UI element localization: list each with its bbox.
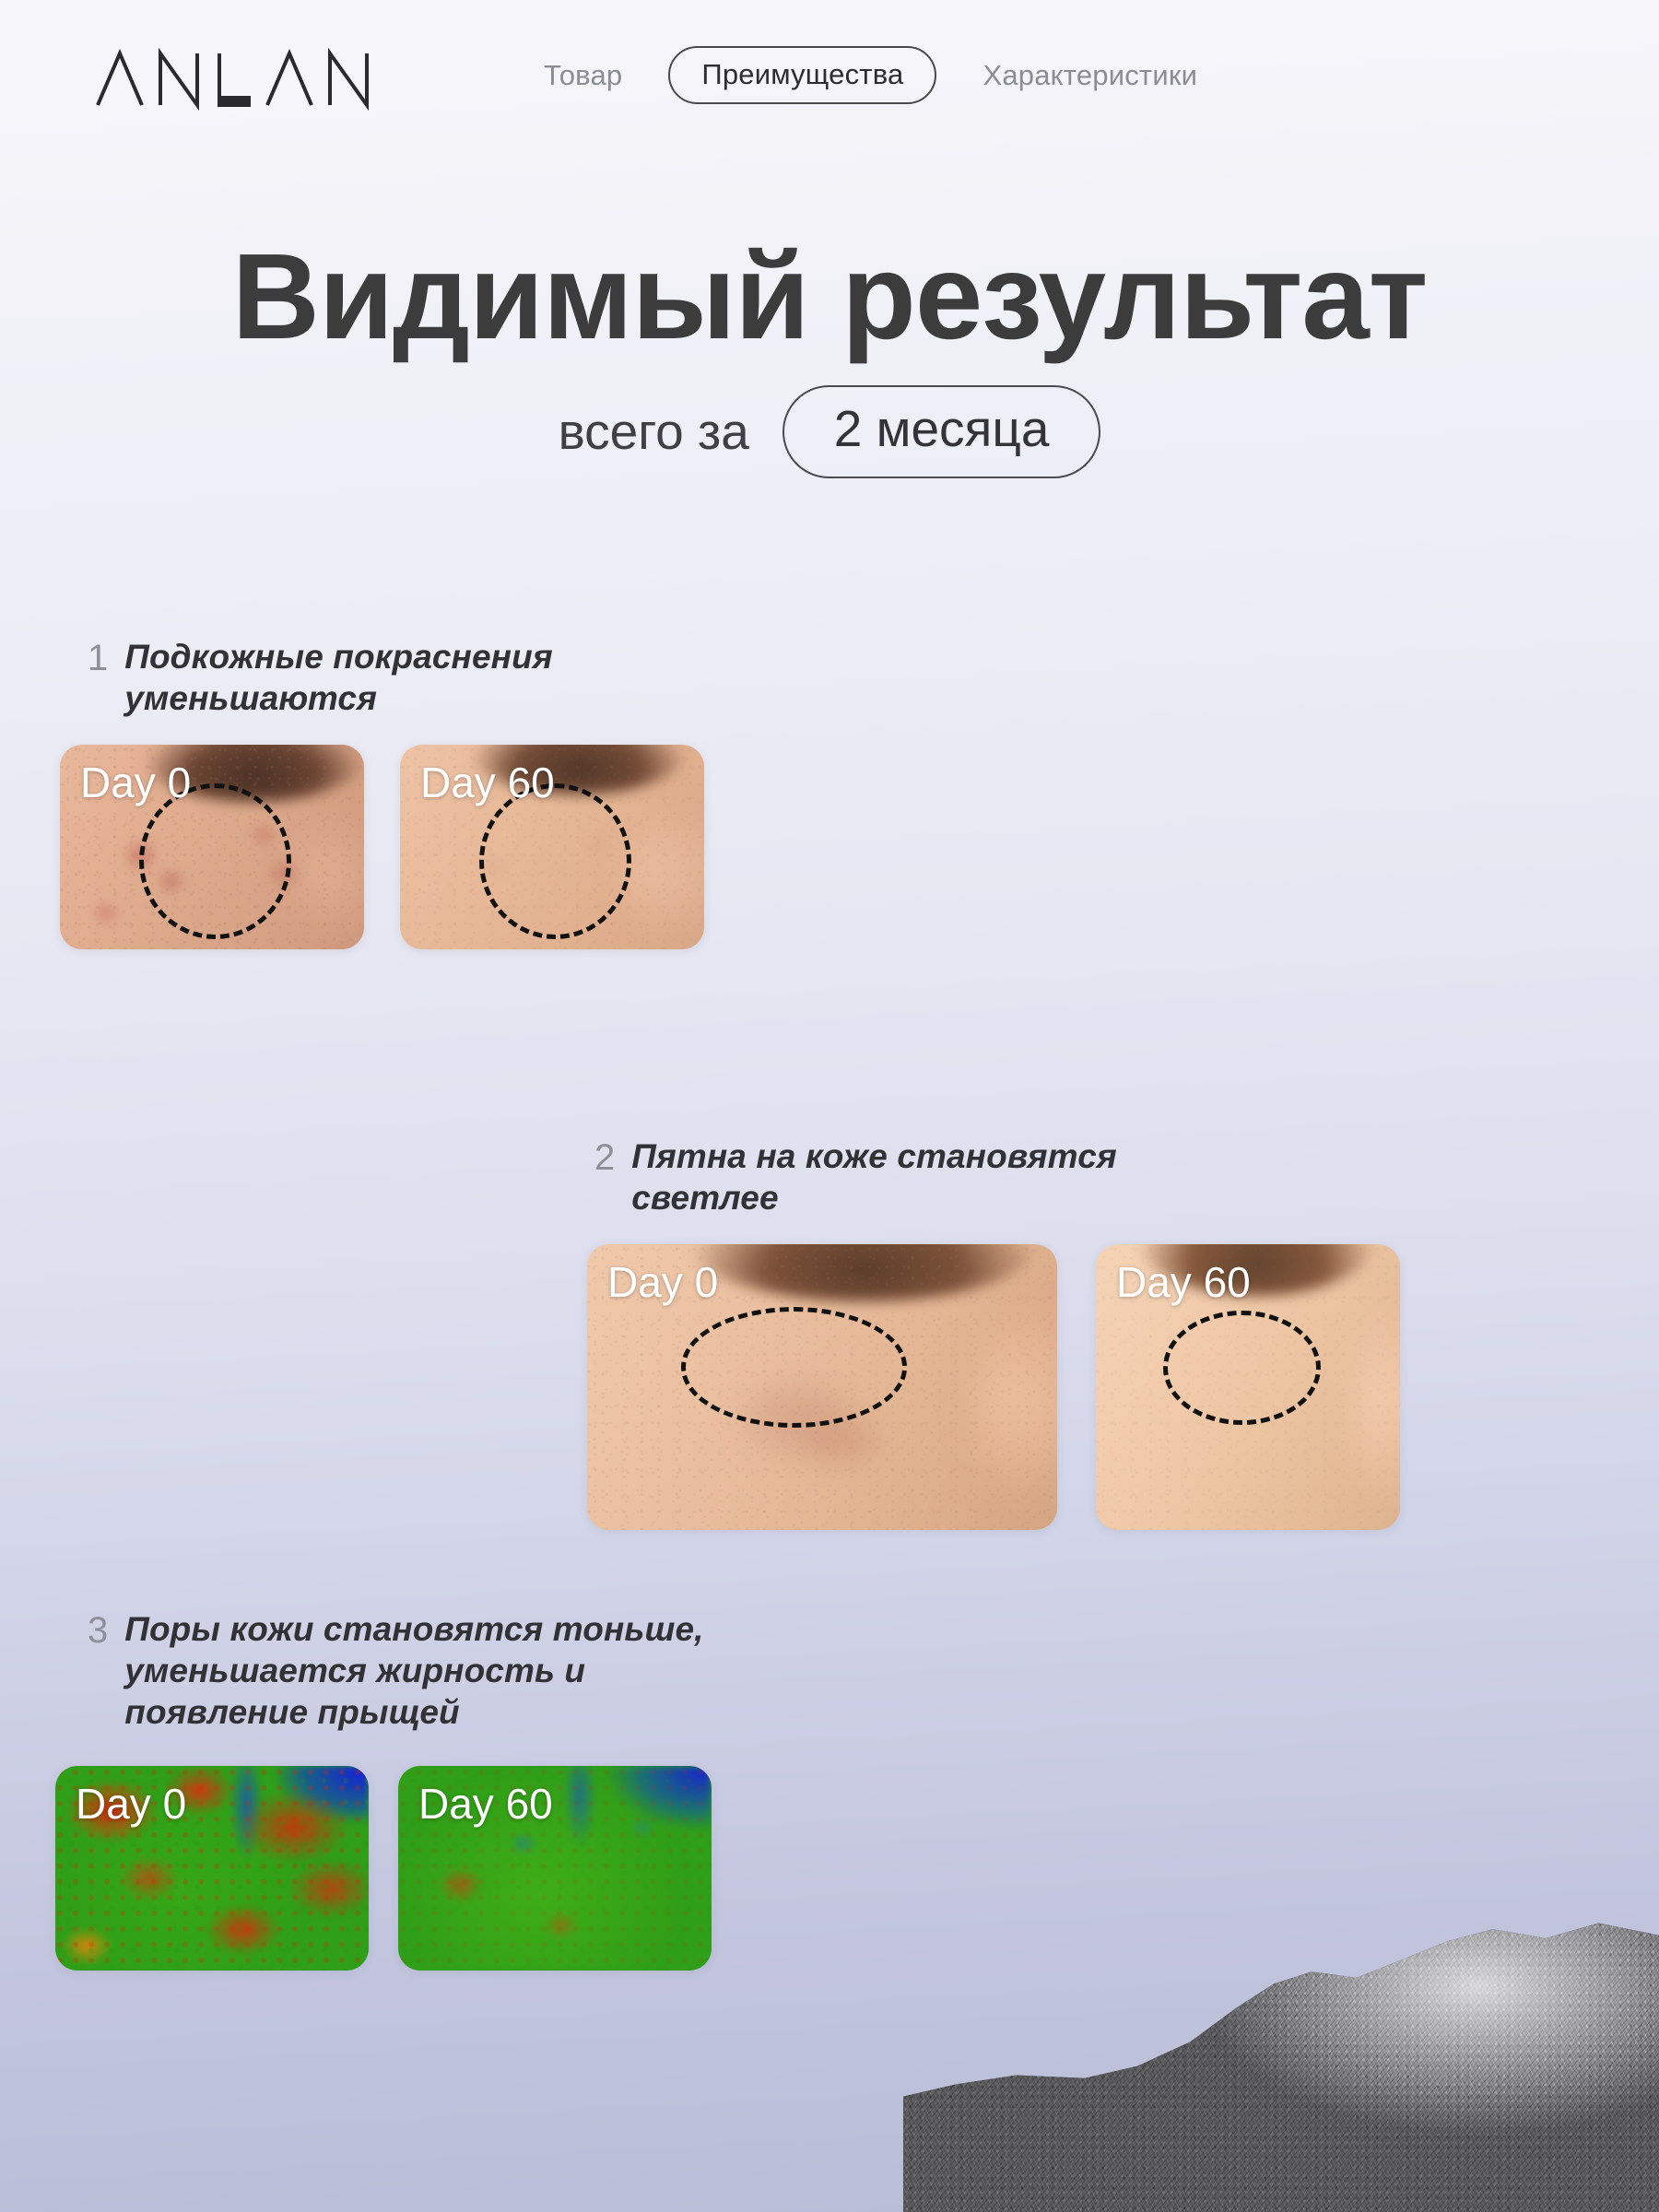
benefit-block-1: 1 Подкожные покраснения уменьшаются Day … <box>88 636 704 949</box>
benefit-1-comparison: Day 0 Day 60 <box>60 745 704 949</box>
benefit-block-3: 3 Поры кожи становятся тоньше, уменьшает… <box>88 1608 712 1971</box>
benefit-2-comparison: Day 0 Day 60 <box>587 1244 1400 1530</box>
benefit-1-after-label: Day 60 <box>420 761 555 804</box>
benefit-2-number: 2 <box>594 1135 615 1176</box>
benefit-1-number: 1 <box>88 636 108 677</box>
benefit-3-comparison: Day 0 Day 60 <box>55 1766 712 1971</box>
nav-item-preimushchestva[interactable]: Преимущества <box>668 46 936 104</box>
benefit-1-heading: 1 Подкожные покраснения уменьшаются <box>88 636 704 719</box>
benefit-2-after-image[interactable]: Day 60 <box>1096 1244 1400 1530</box>
page-title: Видимый результат <box>0 235 1659 359</box>
primary-nav: Товар Преимущества Характеристики <box>544 46 1197 103</box>
hero-subtitle: всего за 2 месяца <box>0 385 1659 478</box>
benefit-2-before-label: Day 0 <box>607 1261 718 1303</box>
benefit-1-after-image[interactable]: Day 60 <box>400 745 704 949</box>
benefit-1-before-label: Day 0 <box>80 761 191 804</box>
benefit-block-2: 2 Пятна на коже становятся светлее Day 0 <box>594 1135 1400 1530</box>
rock-texture-graphic <box>903 1908 1659 2212</box>
benefit-1-text: Подкожные покраснения уменьшаются <box>124 636 552 719</box>
benefit-2-before-image[interactable]: Day 0 <box>587 1244 1057 1530</box>
benefit-3-before-image[interactable]: Day 0 <box>55 1766 369 1971</box>
benefit-3-after-image[interactable]: Day 60 <box>398 1766 712 1971</box>
benefit-3-after-label: Day 60 <box>418 1783 553 1825</box>
benefit-2-text: Пятна на коже становятся светлее <box>631 1135 1117 1218</box>
benefit-2-heading: 2 Пятна на коже становятся светлее <box>594 1135 1400 1218</box>
hero-section: Видимый результат всего за 2 месяца <box>0 235 1659 478</box>
benefit-2-after-label: Day 60 <box>1116 1261 1251 1303</box>
nav-item-tovar[interactable]: Товар <box>544 61 622 89</box>
benefit-3-text: Поры кожи становятся тоньше, уменьшается… <box>124 1608 703 1733</box>
hero-duration-badge[interactable]: 2 месяца <box>782 385 1101 478</box>
benefit-1-before-image[interactable]: Day 0 <box>60 745 364 949</box>
anlan-wordmark-logo[interactable] <box>92 46 396 111</box>
nav-item-harakteristiki[interactable]: Характеристики <box>982 61 1197 89</box>
benefit-3-number: 3 <box>88 1608 108 1649</box>
benefit-3-heading: 3 Поры кожи становятся тоньше, уменьшает… <box>88 1608 712 1733</box>
hero-subtitle-prefix: всего за <box>559 406 749 457</box>
benefit-3-before-label: Day 0 <box>76 1783 186 1825</box>
site-header: Товар Преимущества Характеристики <box>0 0 1659 138</box>
